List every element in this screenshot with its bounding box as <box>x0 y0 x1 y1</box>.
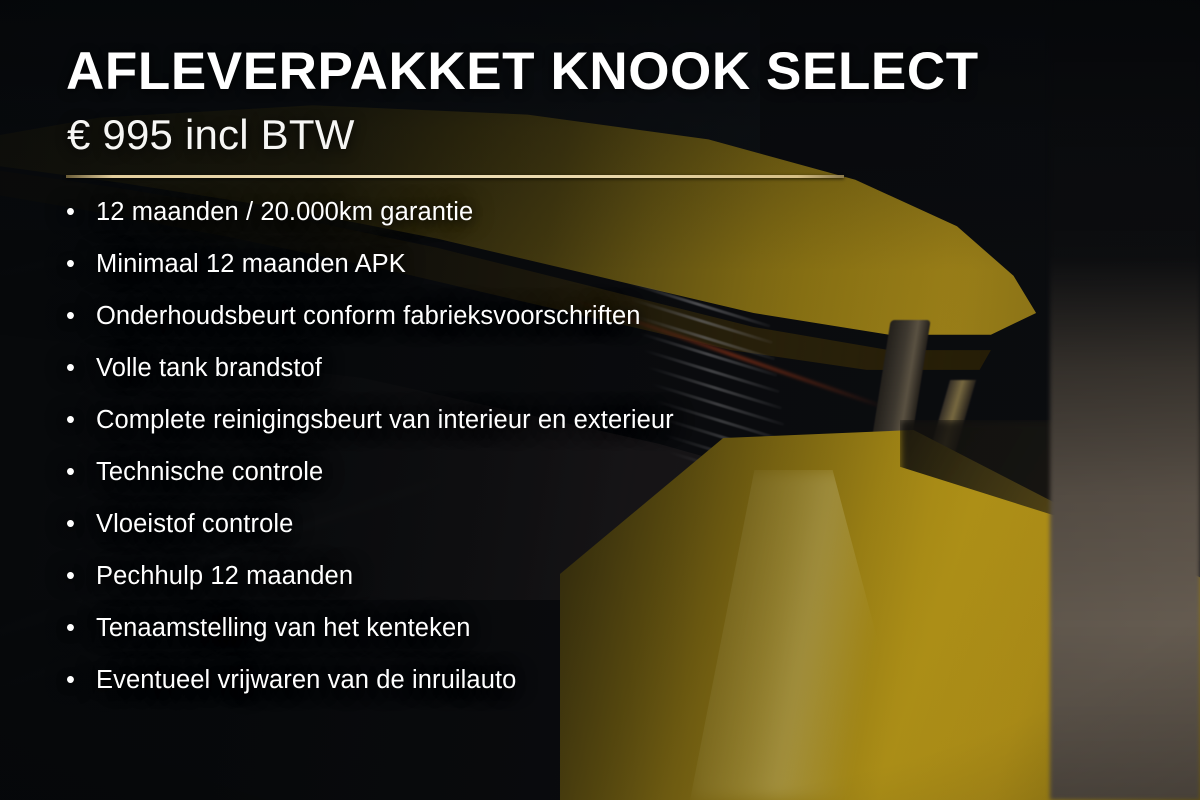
list-item-label: Complete reinigingsbeurt van interieur e… <box>96 406 674 435</box>
gold-divider <box>66 175 844 178</box>
list-item: •Minimaal 12 maanden APK <box>66 250 1136 302</box>
bullet-icon: • <box>66 460 96 486</box>
list-item-label: Tenaamstelling van het kenteken <box>96 614 471 643</box>
list-item: •Technische controle <box>66 458 1136 510</box>
bullet-icon: • <box>66 564 96 590</box>
bullet-icon: • <box>66 304 96 330</box>
list-item-label: Vloeistof controle <box>96 510 293 539</box>
list-item: •Complete reinigingsbeurt van interieur … <box>66 406 1136 458</box>
feature-list: •12 maanden / 20.000km garantie•Minimaal… <box>66 198 1136 718</box>
list-item-label: Technische controle <box>96 458 323 487</box>
bullet-icon: • <box>66 668 96 694</box>
bullet-icon: • <box>66 512 96 538</box>
list-item: •Onderhoudsbeurt conform fabrieksvoorsch… <box>66 302 1136 354</box>
list-item-label: Minimaal 12 maanden APK <box>96 250 406 279</box>
promo-slide: AFLEVERPAKKET KNOOK SELECT € 995 incl BT… <box>0 0 1200 800</box>
bullet-icon: • <box>66 200 96 226</box>
list-item: •Pechhulp 12 maanden <box>66 562 1136 614</box>
bullet-icon: • <box>66 252 96 278</box>
slide-content: AFLEVERPAKKET KNOOK SELECT € 995 incl BT… <box>66 44 1136 718</box>
list-item-label: Onderhoudsbeurt conform fabrieksvoorschr… <box>96 302 641 331</box>
list-item: •Eventueel vrijwaren van de inruilauto <box>66 666 1136 718</box>
list-item-label: 12 maanden / 20.000km garantie <box>96 198 473 227</box>
list-item: •12 maanden / 20.000km garantie <box>66 198 1136 250</box>
page-title: AFLEVERPAKKET KNOOK SELECT <box>66 44 1136 99</box>
bullet-icon: • <box>66 616 96 642</box>
list-item: •Vloeistof controle <box>66 510 1136 562</box>
price-subtitle: € 995 incl BTW <box>67 113 1136 157</box>
list-item-label: Eventueel vrijwaren van de inruilauto <box>96 666 516 695</box>
bullet-icon: • <box>66 356 96 382</box>
list-item-label: Volle tank brandstof <box>96 354 322 383</box>
list-item: •Volle tank brandstof <box>66 354 1136 406</box>
list-item: •Tenaamstelling van het kenteken <box>66 614 1136 666</box>
bullet-icon: • <box>66 408 96 434</box>
list-item-label: Pechhulp 12 maanden <box>96 562 353 591</box>
